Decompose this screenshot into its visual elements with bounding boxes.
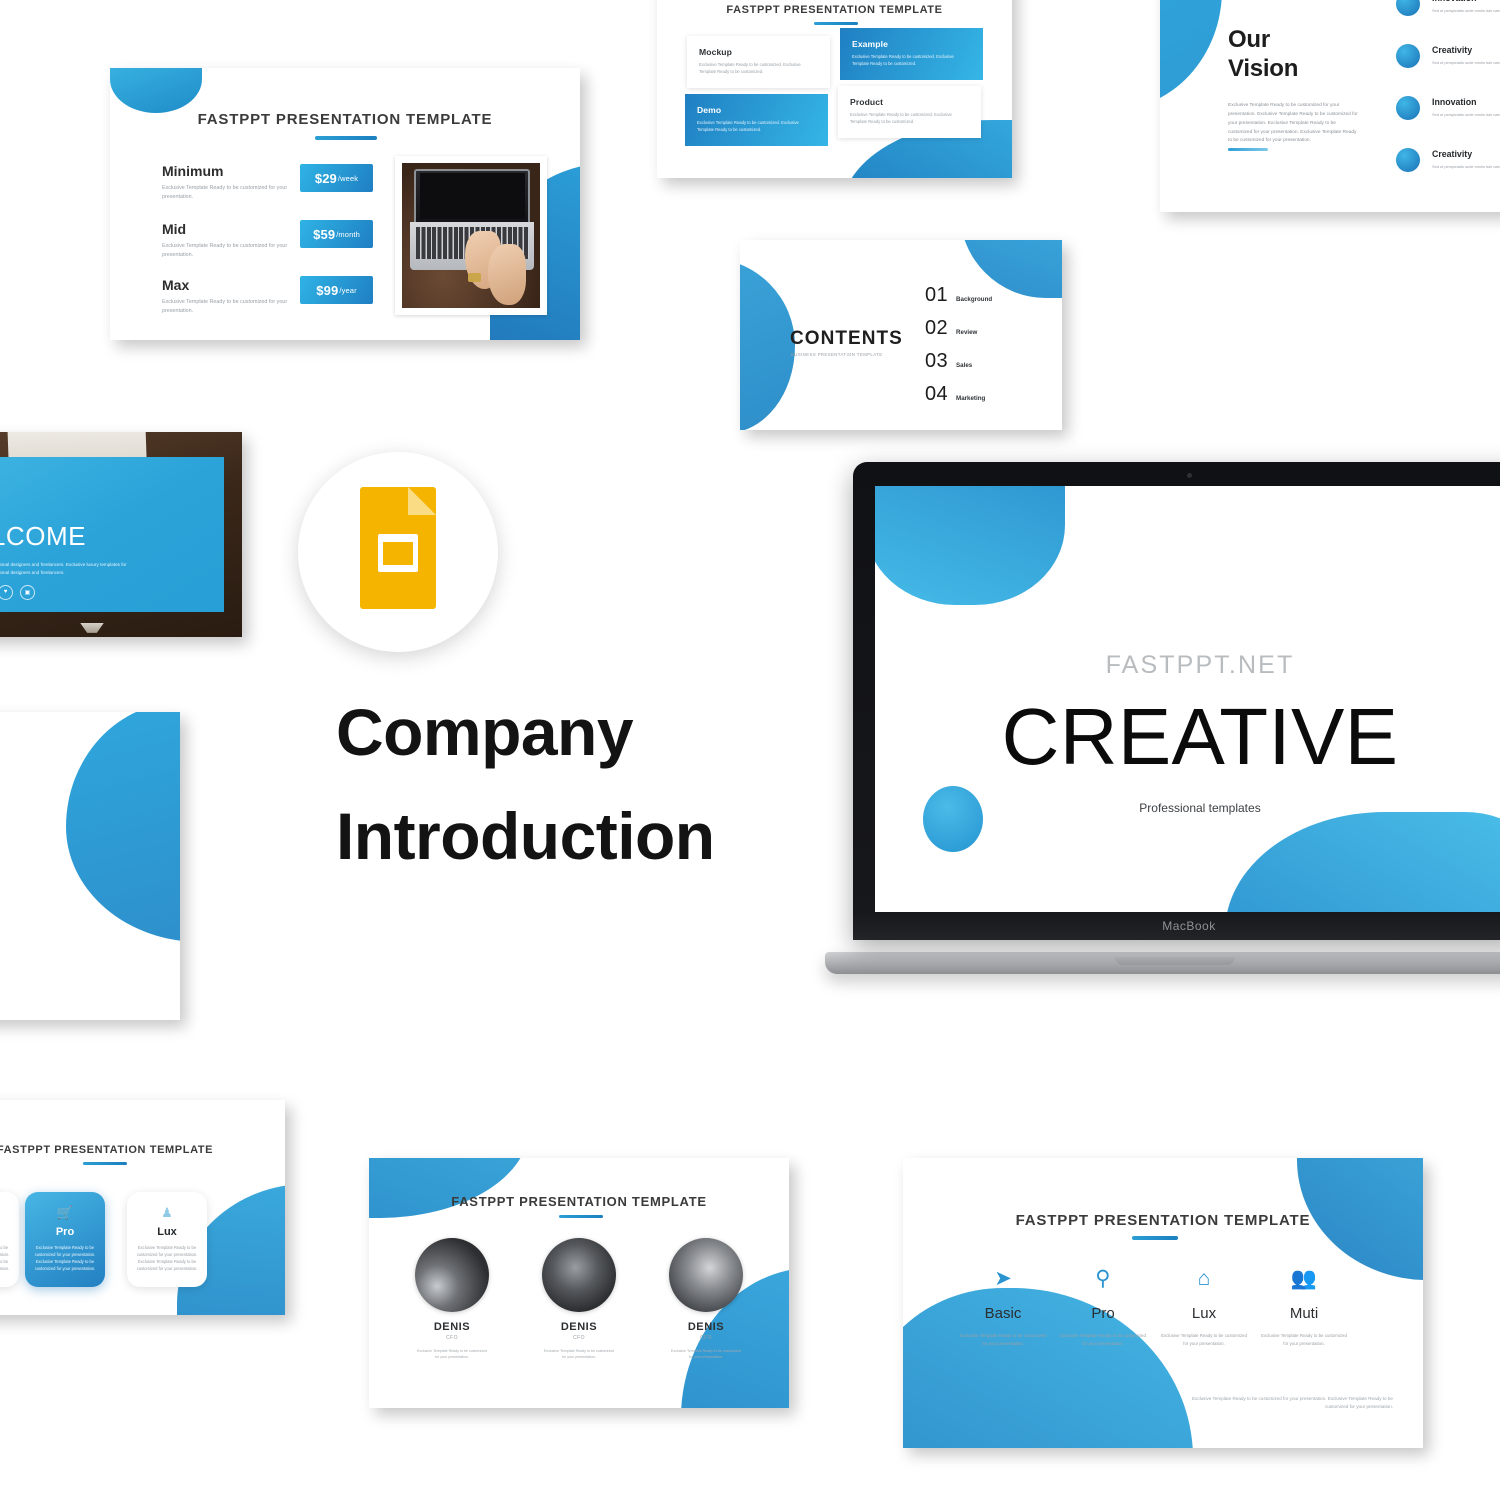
vision-item-title: Innovation bbox=[1432, 0, 1476, 3]
decor-blob-top-left bbox=[369, 1158, 529, 1218]
laptop-photo bbox=[395, 156, 547, 315]
feature-pro[interactable]: ⚲ Pro Exclusive Template Ready to be cus… bbox=[1051, 1268, 1155, 1347]
feature-lux[interactable]: ⌂ Lux Exclusive Template Ready to be cus… bbox=[1152, 1268, 1256, 1347]
vision-item-title: Creativity bbox=[1432, 45, 1472, 55]
vision-item-title: Creativity bbox=[1432, 149, 1472, 159]
card-label: Example bbox=[852, 39, 971, 49]
vision-item-desc: Sed ut perspiciatis unde omnis iste natu… bbox=[1432, 7, 1500, 14]
feature-muti[interactable]: 👥 Muti Exclusive Template Ready to be cu… bbox=[1252, 1268, 1356, 1347]
price-amount: $29 bbox=[315, 171, 337, 186]
vision-item-desc: Sed ut perspiciatis unde omnis iste natu… bbox=[1432, 59, 1500, 66]
macbook-chin: MacBook bbox=[853, 912, 1500, 940]
contents-number: 03 bbox=[925, 350, 948, 372]
contents-subheading: BUSINESS PRESENTATION TEMPLATE bbox=[791, 352, 882, 357]
team-desc: Exclusive Template Ready to be customize… bbox=[0, 976, 9, 995]
team-member[interactable]: DENIS CFO Exclusive Template Ready to be… bbox=[402, 1238, 502, 1361]
decor-blob-top-left bbox=[875, 486, 1065, 605]
contents-label: Review bbox=[956, 329, 977, 336]
page-title: Company Introduction bbox=[336, 680, 856, 889]
member-role: CFO bbox=[529, 1335, 629, 1341]
price-badge[interactable]: $29/week bbox=[300, 164, 373, 192]
vision-item-desc: Sed ut perspiciatis unde omnis iste natu… bbox=[1432, 111, 1500, 118]
price-row: Minimum Exclusive Template Ready to be c… bbox=[162, 163, 292, 202]
feature-label: Muti bbox=[1252, 1305, 1356, 1322]
title-underline bbox=[1132, 1236, 1178, 1240]
users-icon: 👥 bbox=[1252, 1268, 1356, 1292]
paper-plane-icon: ➤ bbox=[951, 1268, 1055, 1292]
price-badge[interactable]: $59/month bbox=[300, 220, 373, 248]
feature-basic[interactable]: ➤ Basic Exclusive Template Ready to be c… bbox=[951, 1268, 1055, 1347]
decor-blob-left bbox=[740, 258, 795, 430]
feature-desc: Exclusive Template Ready to be customize… bbox=[951, 1332, 1055, 1347]
price-name: Mid bbox=[162, 221, 292, 237]
title-underline bbox=[814, 22, 858, 25]
price-row: Mid Exclusive Template Ready to be custo… bbox=[162, 221, 292, 260]
decor-blob-left bbox=[1160, 0, 1222, 110]
slide-title: FASTPPT PRESENTATION TEMPLATE bbox=[903, 1212, 1423, 1229]
feature-label: Pro bbox=[1051, 1305, 1155, 1322]
price-name: Minimum bbox=[162, 163, 292, 179]
slide-pricing[interactable]: FASTPPT PRESENTATION TEMPLATE Minimum Ex… bbox=[110, 68, 580, 340]
price-desc: Exclusive Template Ready to be customize… bbox=[162, 242, 292, 260]
vision-underline bbox=[1228, 148, 1268, 151]
decor-blob-bottom-right bbox=[1225, 812, 1500, 912]
decor-blob-right bbox=[66, 712, 180, 942]
card-desc: Exclusive Template Ready to be customize… bbox=[852, 54, 971, 67]
google-slides-logo bbox=[298, 452, 498, 652]
plan-card-basic[interactable]: ⚹ Basic Exclusive Template Ready to be c… bbox=[0, 1192, 19, 1287]
slide-title: FASTPPT PRESENTATION TEMPLATE bbox=[110, 111, 580, 128]
contents-label: Marketing bbox=[956, 395, 985, 402]
slide-our-vision[interactable]: Our Vision Exclusive Template Ready to b… bbox=[1160, 0, 1500, 212]
macbook-lid: FASTPPT.NET CREATIVE Professional templa… bbox=[853, 462, 1500, 940]
welcome-body: Exclusive luxury templates for professio… bbox=[0, 561, 127, 578]
vision-item-desc: Sed ut perspiciatis unde omnis iste natu… bbox=[1432, 163, 1500, 170]
slide-title: FASTPPT PRESENTATION TEMPLATE bbox=[657, 4, 1012, 16]
price-period: /month bbox=[336, 230, 360, 239]
slide-plans[interactable]: FASTPPT PRESENTATION TEMPLATE ⚹ Basic Ex… bbox=[0, 1100, 285, 1315]
search-icon: ⚲ bbox=[1051, 1268, 1155, 1292]
card-mockup[interactable]: Mockup Exclusive Template Ready to be cu… bbox=[687, 36, 830, 88]
contents-number: 02 bbox=[925, 317, 948, 339]
home-icon: ⌂ bbox=[1152, 1268, 1256, 1292]
card-desc: Exclusive Template Ready to be customize… bbox=[697, 120, 816, 133]
features-footer: Exclusive Template Ready to be customize… bbox=[1173, 1395, 1393, 1412]
page-title-line1: Company bbox=[336, 680, 856, 784]
member-desc: Exclusive Template Ready to be customize… bbox=[529, 1348, 629, 1361]
poster-canvas: FASTPPT PRESENTATION TEMPLATE Minimum Ex… bbox=[0, 0, 1500, 1500]
feature-label: Lux bbox=[1152, 1305, 1256, 1322]
bullet-dot-icon bbox=[1396, 96, 1420, 120]
title-underline bbox=[559, 1215, 603, 1218]
contents-item[interactable]: 04Marketing bbox=[925, 383, 985, 406]
contents-number: 04 bbox=[925, 383, 948, 405]
welcome-title: WELCOME bbox=[0, 521, 86, 552]
price-period: /year bbox=[339, 286, 356, 295]
member-name: DENIS bbox=[656, 1321, 756, 1333]
decor-circle bbox=[923, 786, 983, 852]
avatar bbox=[669, 1238, 743, 1312]
contents-item[interactable]: 03Sales bbox=[925, 350, 972, 373]
member-name: DENIS bbox=[402, 1321, 502, 1333]
page-title-line2: Introduction bbox=[336, 784, 856, 888]
plan-card-lux[interactable]: ♟ Lux Exclusive Template Ready to be cus… bbox=[127, 1192, 207, 1287]
feature-label: Basic bbox=[951, 1305, 1055, 1322]
decor-blob-top bbox=[110, 68, 202, 113]
instagram-icon[interactable]: ▣ bbox=[20, 585, 35, 600]
card-desc: Exclusive Template Ready to be customize… bbox=[850, 112, 969, 125]
price-badge[interactable]: $99/year bbox=[300, 276, 373, 304]
slide-headline: CREATIVE bbox=[875, 691, 1500, 783]
contents-item[interactable]: 02Review bbox=[925, 317, 977, 340]
title-underline bbox=[83, 1162, 127, 1165]
contents-number: 01 bbox=[925, 284, 948, 306]
member-desc: Exclusive Template Ready to be customize… bbox=[656, 1348, 756, 1361]
card-desc: Exclusive Template Ready to be customize… bbox=[699, 62, 818, 75]
macbook-notch bbox=[1115, 957, 1235, 965]
bullet-dot-icon bbox=[1396, 44, 1420, 68]
plan-desc: Exclusive Template Ready to be customize… bbox=[136, 1245, 198, 1273]
plan-label: Pro bbox=[25, 1226, 105, 1238]
user-icon: ♟ bbox=[127, 1205, 207, 1221]
avatar bbox=[415, 1238, 489, 1312]
slide-tagline: Professional templates bbox=[875, 801, 1500, 815]
slide-team-partial[interactable]: ♁ Team Exclusive Template Ready to be cu… bbox=[0, 712, 180, 1020]
bullet-dot-icon bbox=[1396, 0, 1420, 16]
contents-heading: CONTENTS bbox=[790, 328, 903, 350]
slide-contents[interactable]: CONTENTS BUSINESS PRESENTATION TEMPLATE … bbox=[740, 240, 1062, 430]
plan-desc: Exclusive Template Ready to be customize… bbox=[34, 1245, 96, 1273]
title-underline bbox=[315, 136, 377, 140]
team-member[interactable]: DENIS CFO Exclusive Template Ready to be… bbox=[529, 1238, 629, 1361]
slide-welcome[interactable]: WELCOME Exclusive luxury templates for p… bbox=[0, 432, 242, 637]
vision-heading: Our Vision bbox=[1228, 25, 1298, 84]
plan-label: Basic bbox=[0, 1226, 19, 1238]
member-role: CFO bbox=[656, 1335, 756, 1341]
price-row: Max Exclusive Template Ready to be custo… bbox=[162, 277, 292, 316]
card-label: Demo bbox=[697, 105, 816, 115]
slide-people[interactable]: FASTPPT PRESENTATION TEMPLATE DENIS CFO … bbox=[369, 1158, 789, 1408]
cart-icon: 🛒 bbox=[25, 1205, 105, 1221]
vision-heading-line1: Our bbox=[1228, 25, 1298, 54]
pinterest-icon[interactable]: ♥ bbox=[0, 585, 13, 600]
card-label: Product bbox=[850, 97, 969, 107]
price-desc: Exclusive Template Ready to be customize… bbox=[162, 184, 292, 202]
feature-desc: Exclusive Template Ready to be customize… bbox=[1051, 1332, 1155, 1347]
plan-card-pro[interactable]: 🛒 Pro Exclusive Template Ready to be cus… bbox=[25, 1192, 105, 1287]
plan-desc: Exclusive Template Ready to be customize… bbox=[0, 1245, 10, 1273]
macbook-screen: FASTPPT.NET CREATIVE Professional templa… bbox=[875, 486, 1500, 912]
slide-frame-icon bbox=[378, 534, 418, 572]
price-name: Max bbox=[162, 277, 292, 293]
vision-item-title: Innovation bbox=[1432, 97, 1476, 107]
slide-title: FASTPPT PRESENTATION TEMPLATE bbox=[369, 1194, 789, 1209]
team-member[interactable]: DENIS CFO Exclusive Template Ready to be… bbox=[656, 1238, 756, 1361]
price-desc: Exclusive Template Ready to be customize… bbox=[162, 298, 292, 316]
slide-title: FASTPPT PRESENTATION TEMPLATE bbox=[0, 1144, 285, 1156]
slide-four-cards[interactable]: FASTPPT PRESENTATION TEMPLATE Mockup Exc… bbox=[657, 0, 1012, 178]
card-product[interactable]: Product Exclusive Template Ready to be c… bbox=[838, 86, 981, 138]
bullet-dot-icon bbox=[1396, 148, 1420, 172]
feature-desc: Exclusive Template Ready to be customize… bbox=[1152, 1332, 1256, 1347]
contents-item[interactable]: 01Background bbox=[925, 284, 992, 307]
feature-desc: Exclusive Template Ready to be customize… bbox=[1252, 1332, 1356, 1347]
webcam-icon bbox=[1187, 473, 1192, 478]
contents-label: Sales bbox=[956, 362, 972, 369]
vision-heading-line2: Vision bbox=[1228, 54, 1298, 83]
vision-body: Exclusive Template Ready to be customize… bbox=[1228, 102, 1358, 146]
slide-features[interactable]: FASTPPT PRESENTATION TEMPLATE ➤ Basic Ex… bbox=[903, 1158, 1423, 1448]
member-role: CFO bbox=[402, 1335, 502, 1341]
card-example[interactable]: Example Exclusive Template Ready to be c… bbox=[840, 28, 983, 80]
member-name: DENIS bbox=[529, 1321, 629, 1333]
card-label: Mockup bbox=[699, 47, 818, 57]
monitor-screen: WELCOME Exclusive luxury templates for p… bbox=[0, 457, 224, 613]
price-period: /week bbox=[338, 174, 358, 183]
avatar bbox=[542, 1238, 616, 1312]
price-amount: $99 bbox=[316, 283, 338, 298]
tag-icon: ⚹ bbox=[0, 1205, 19, 1221]
contents-label: Background bbox=[956, 296, 992, 303]
card-demo[interactable]: Demo Exclusive Template Ready to be cust… bbox=[685, 94, 828, 146]
plan-label: Lux bbox=[127, 1226, 207, 1238]
macbook-mockup: FASTPPT.NET CREATIVE Professional templa… bbox=[825, 462, 1500, 992]
member-desc: Exclusive Template Ready to be customize… bbox=[402, 1348, 502, 1361]
social-icons[interactable]: ✦ f ♥ ▣ bbox=[0, 585, 35, 600]
macbook-brand-label: MacBook bbox=[1162, 919, 1215, 933]
price-amount: $59 bbox=[313, 227, 335, 242]
slide-eyebrow: FASTPPT.NET bbox=[875, 651, 1500, 680]
